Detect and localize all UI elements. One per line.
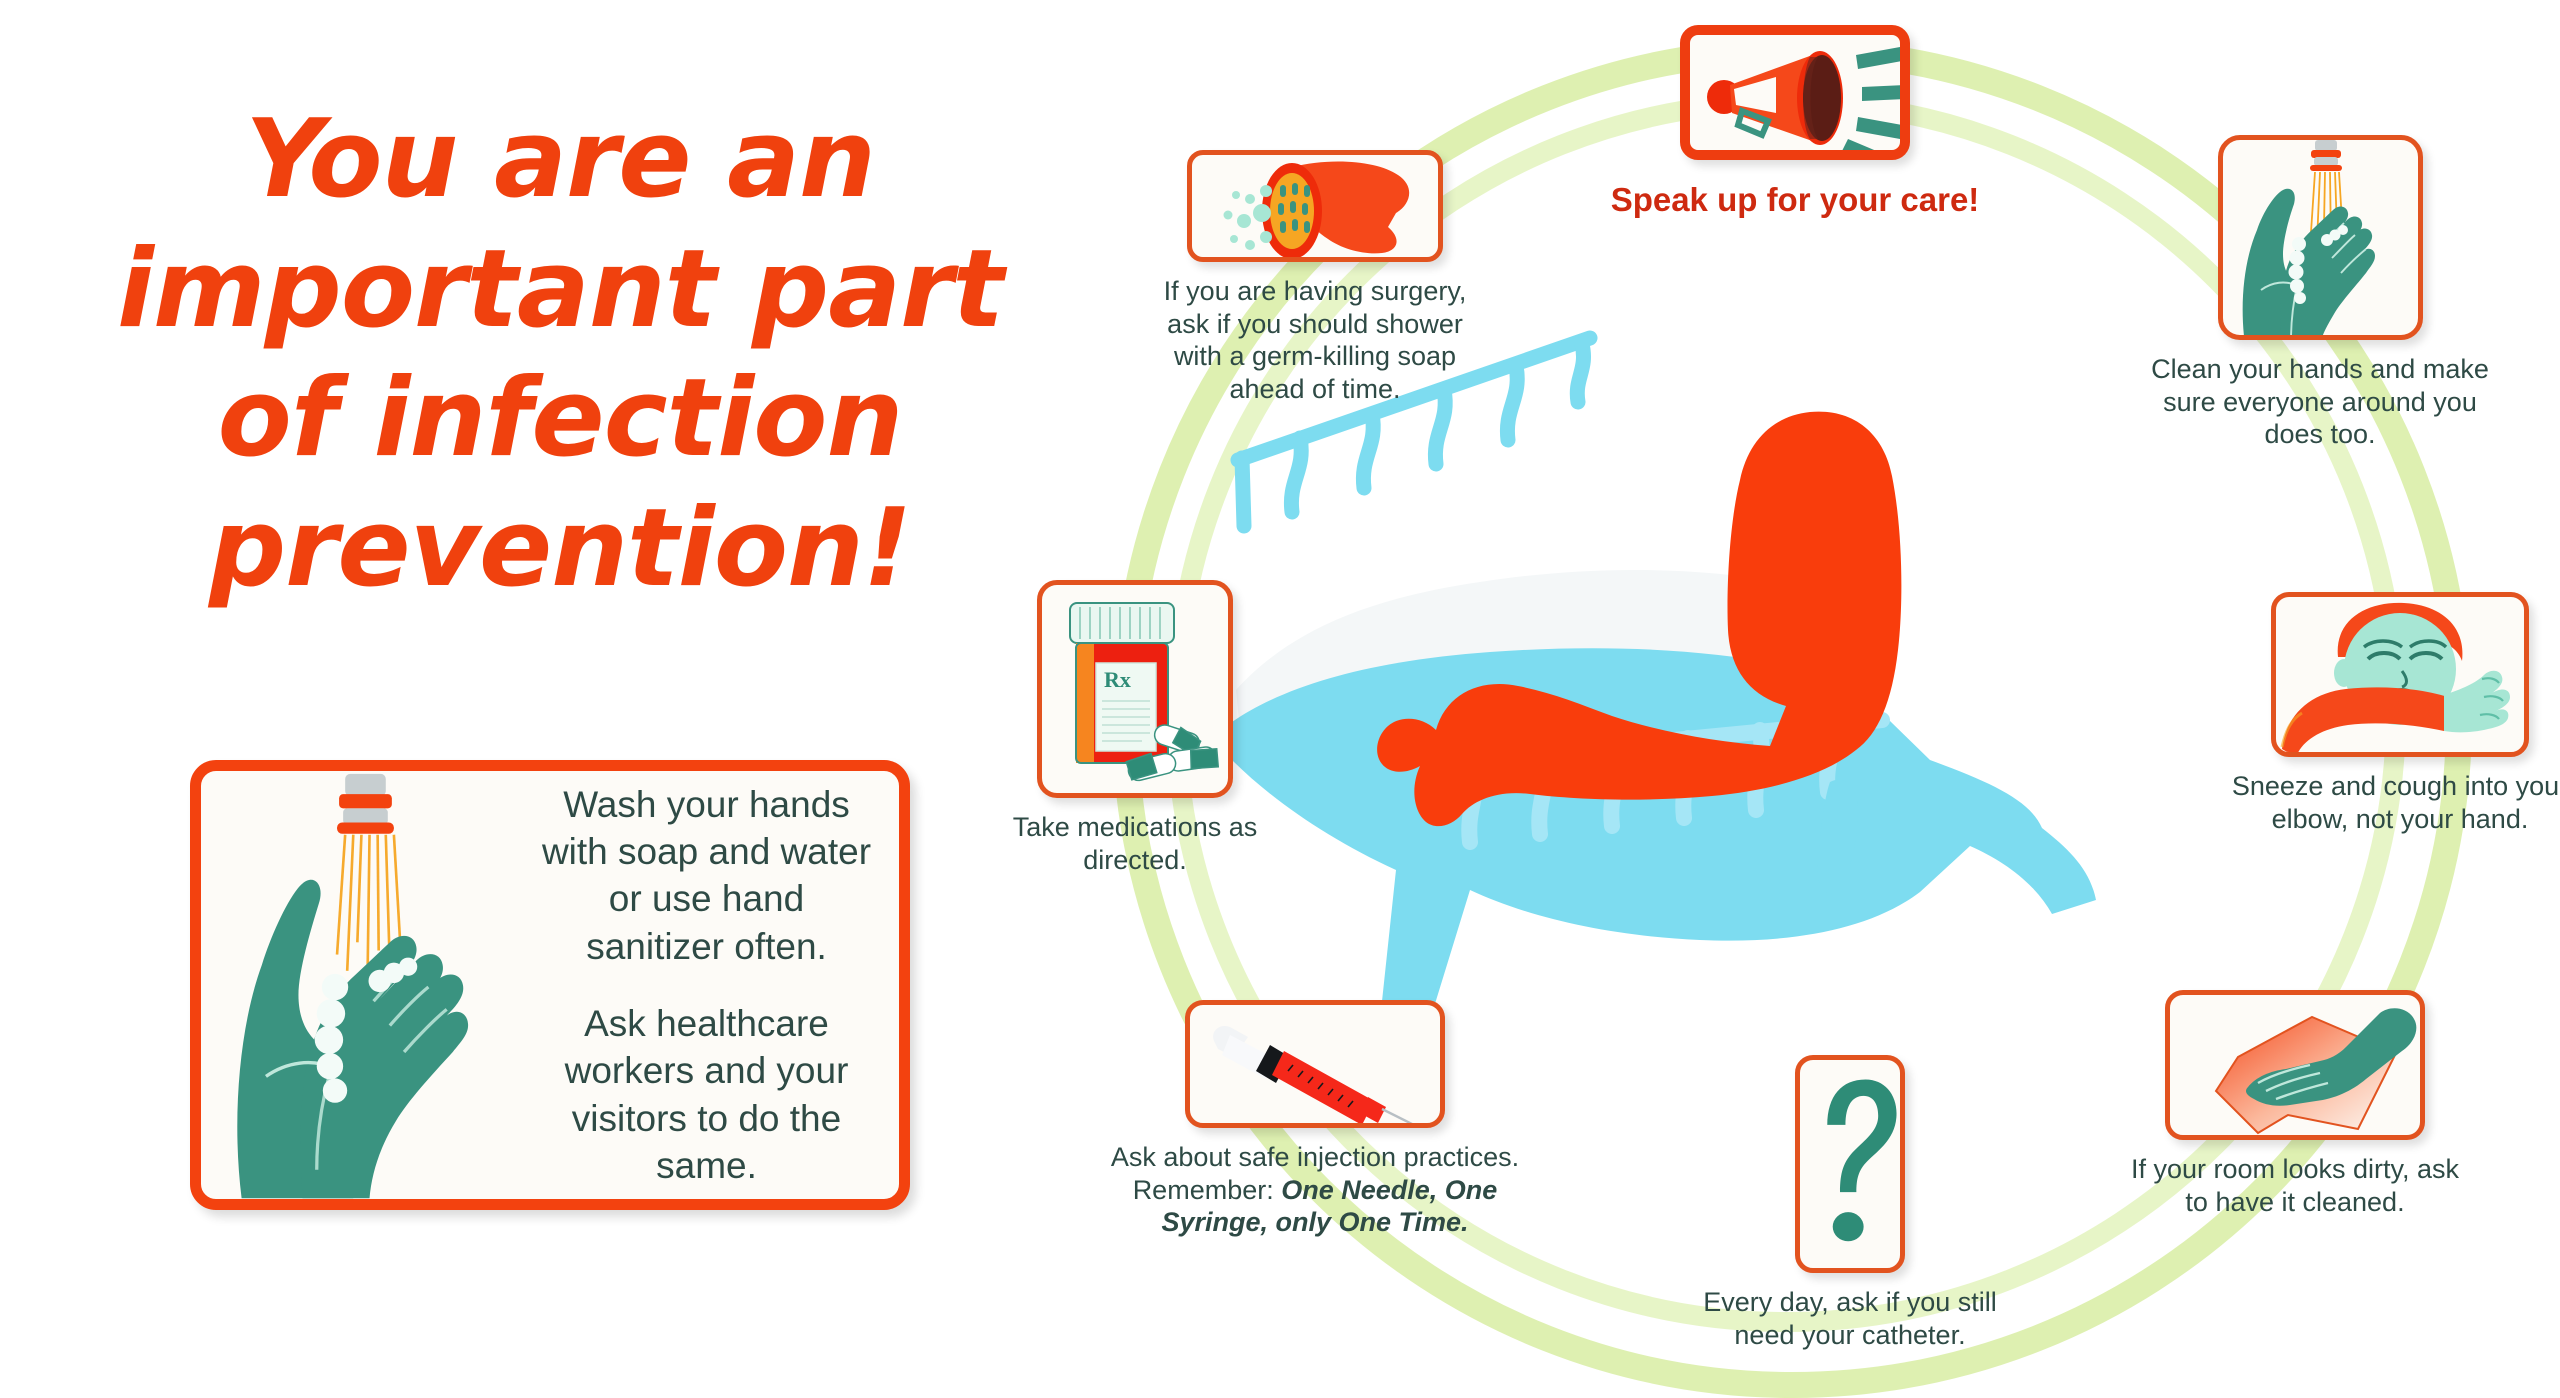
handwashing-under-faucet-icon [201,771,536,1199]
headline-line-3: of infection [95,354,1025,484]
sneeze-into-elbow-icon [2271,592,2529,757]
node-sneeze-caption: Sneeze and cough into your elbow, not yo… [2225,770,2560,835]
shower-head-icon [1187,150,1443,262]
wiping-hand-with-cloth-icon [2165,990,2425,1140]
node-catheter-caption: Every day, ask if you still need your ca… [1680,1286,2020,1351]
svg-text:Rx: Rx [1104,667,1131,692]
megaphone-icon [1680,25,1910,160]
infographic-canvas: You are an important part of infection p… [0,0,2560,1393]
pill-bottle-icon: Rx [1037,580,1233,798]
handwashing-card-text: Wash your hands with soap and water or u… [536,781,899,1190]
handwashing-card: Wash your hands with soap and water or u… [190,760,910,1210]
washing-hands-icon [2218,135,2423,340]
node-medication[interactable]: Rx Take medications as directed. [980,580,1290,876]
node-sneeze-cough[interactable]: Sneeze and cough into your elbow, not yo… [2225,592,2560,835]
node-medication-caption: Take medications as directed. [980,811,1290,876]
node-speak-up[interactable]: Speak up for your care! [1605,25,1985,220]
node-clean-hands[interactable]: Clean your hands and make sure everyone … [2135,135,2505,451]
node-room-cleaning[interactable]: If your room looks dirty, ask to have it… [2130,990,2460,1218]
syringe-icon [1185,1000,1445,1128]
question-mark-icon [1795,1055,1905,1273]
headline-line-4: prevention! [95,484,1025,614]
node-safe-injection[interactable]: Ask about safe injection practices. Reme… [1080,1000,1550,1239]
node-surgery-caption: If you are having surgery, ask if you sh… [1140,275,1490,406]
node-speak-up-caption: Speak up for your care! [1605,180,1985,220]
node-catheter[interactable]: Every day, ask if you still need your ca… [1680,1055,2020,1351]
patient-in-bed-illustration [1230,330,2210,1070]
headline-line-2: important part [95,225,1025,355]
handwashing-paragraph-1: Wash your hands with soap and water or u… [536,781,877,970]
page-title: You are an important part of infection p… [95,95,1025,613]
node-injection-caption: Ask about safe injection practices. Reme… [1080,1141,1550,1239]
headline-line-1: You are an [95,95,1025,225]
handwashing-paragraph-2: Ask healthcare workers and your visitors… [536,1000,877,1189]
node-clean-hands-caption: Clean your hands and make sure everyone … [2135,353,2505,451]
node-surgery-shower[interactable]: If you are having surgery, ask if you sh… [1140,150,1490,406]
node-room-caption: If your room looks dirty, ask to have it… [2130,1153,2460,1218]
